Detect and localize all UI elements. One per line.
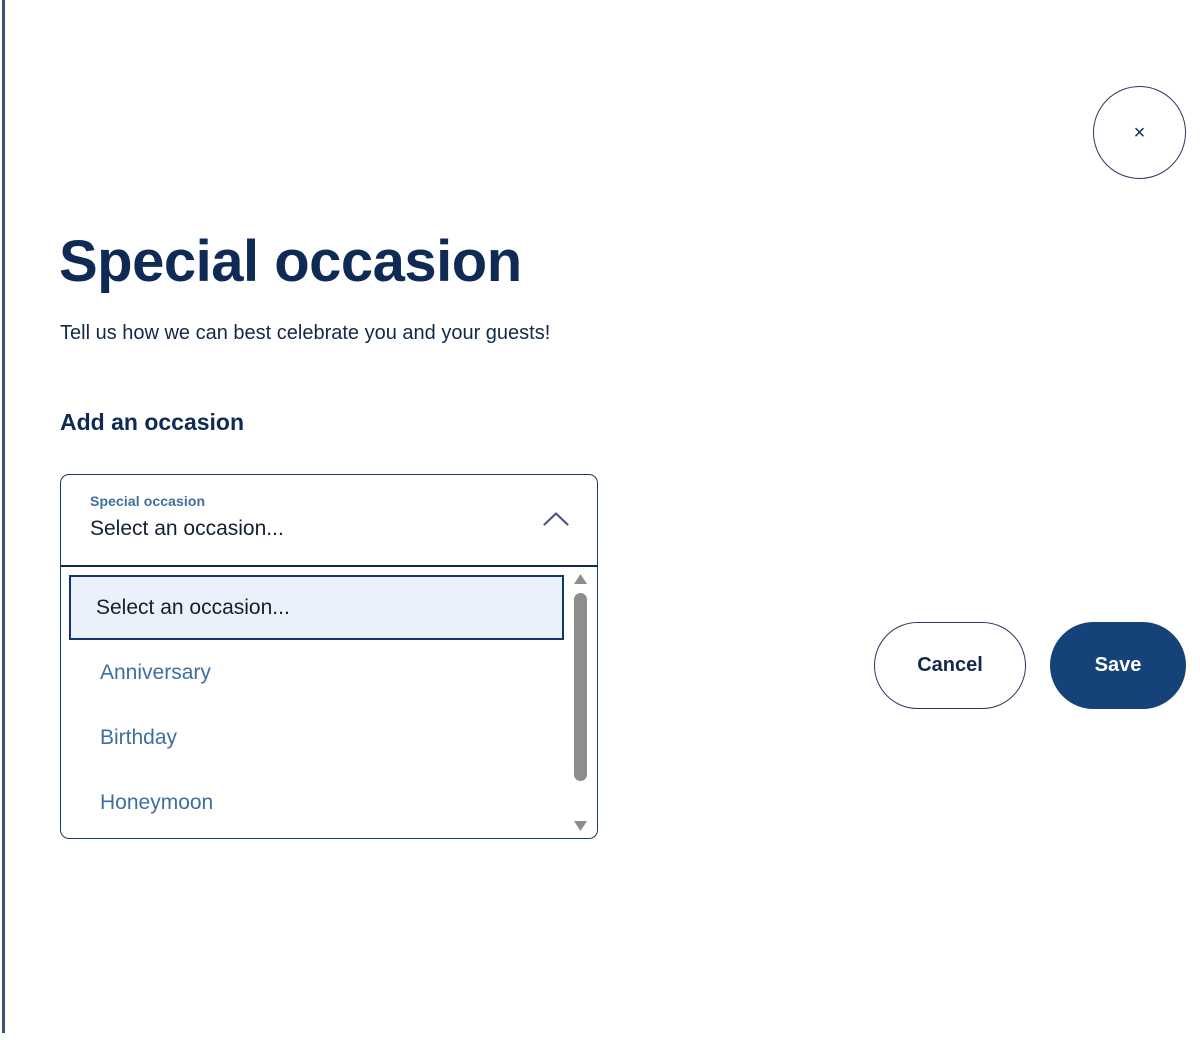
- option-label: Birthday: [100, 725, 177, 750]
- close-button[interactable]: ×: [1093, 86, 1186, 179]
- option-row[interactable]: Honeymoon: [69, 770, 564, 835]
- scroll-up-arrow-icon[interactable]: [573, 573, 588, 585]
- option-row[interactable]: Birthday: [69, 705, 564, 770]
- page-edge-rule: [2, 0, 5, 1033]
- page-title: Special occasion: [59, 232, 522, 293]
- page-subtitle: Tell us how we can best celebrate you an…: [60, 320, 550, 346]
- select-option-list: Select an occasion... Anniversary Birthd…: [60, 567, 598, 839]
- cancel-button[interactable]: Cancel: [874, 622, 1026, 709]
- select-selected-value: Select an occasion...: [90, 516, 547, 542]
- special-occasion-select: Special occasion Select an occasion... S…: [60, 474, 598, 839]
- section-heading-add-an-occasion: Add an occasion: [60, 408, 244, 438]
- option-label: Anniversary: [100, 660, 211, 685]
- scrollbar-thumb[interactable]: [574, 593, 587, 781]
- option-scroll-area: Select an occasion... Anniversary Birthd…: [61, 567, 572, 838]
- chevron-up-icon[interactable]: [543, 511, 569, 527]
- option-label: Select an occasion...: [96, 595, 290, 620]
- scroll-down-arrow-icon[interactable]: [573, 820, 588, 832]
- option-list-scrollbar[interactable]: [572, 573, 589, 832]
- select-header[interactable]: Special occasion Select an occasion...: [60, 474, 598, 567]
- option-row[interactable]: Select an occasion...: [69, 575, 564, 640]
- save-button[interactable]: Save: [1050, 622, 1186, 709]
- option-label: Honeymoon: [100, 790, 213, 815]
- option-row[interactable]: Anniversary: [69, 640, 564, 705]
- select-floating-label: Special occasion: [90, 493, 547, 511]
- close-icon: ×: [1134, 123, 1146, 143]
- action-buttons: Cancel Save: [874, 622, 1186, 709]
